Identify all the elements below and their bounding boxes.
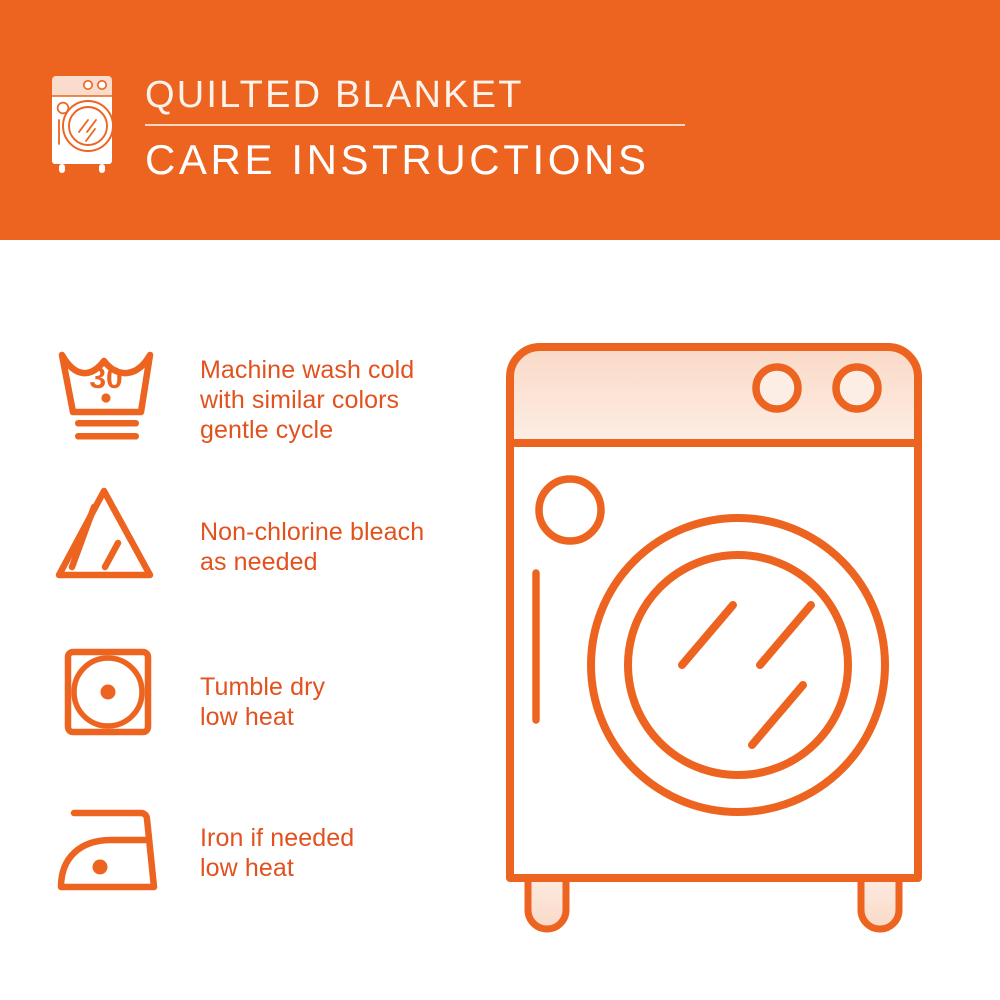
page-title-primary: QUILTED BLANKET [145,72,705,118]
header-titles: QUILTED BLANKET CARE INSTRUCTIONS [145,72,705,185]
care-item-label: Non-chlorine bleach as needed [200,517,424,577]
care-item-label: Tumble dry low heat [200,672,325,732]
knob-left [756,367,798,409]
wash-temperature-label: 30 [89,362,122,395]
front-load-washing-machine-illustration [480,320,980,960]
tumble-dry-low-heat-icon [55,640,160,750]
page-title-secondary: CARE INSTRUCTIONS [145,135,705,185]
washing-machine-icon [46,68,124,176]
care-instructions-list: 30 Machine wash cold with similar colors… [0,240,470,1000]
wash-tub-30-gentle-icon: 30 [55,340,160,450]
knob-right [836,367,878,409]
header-bar: QUILTED BLANKET CARE INSTRUCTIONS [0,0,1000,240]
care-instructions-page: QUILTED BLANKET CARE INSTRUCTIONS 30 [0,0,1000,1000]
care-item-label: Machine wash cold with similar colors ge… [200,355,414,445]
non-chlorine-bleach-triangle-icon [55,485,160,595]
title-divider [145,124,685,126]
care-item-label: Iron if needed low heat [200,823,354,883]
detergent-dial [539,479,601,541]
iron-low-heat-icon [55,795,160,905]
